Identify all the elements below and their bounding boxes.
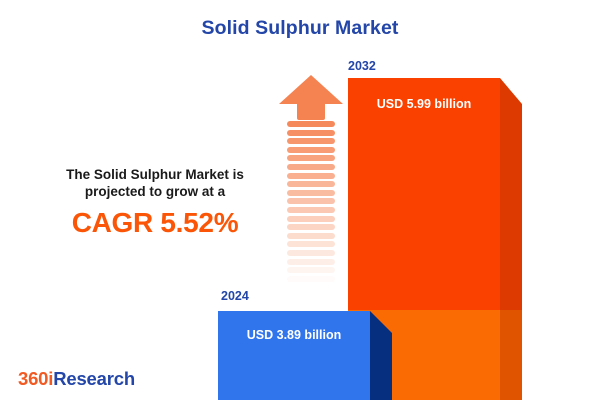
bar-2032-value-label: USD 5.99 billion (348, 97, 500, 111)
bar-2024 (218, 311, 392, 400)
bar-2024-front (218, 311, 370, 400)
bar-2024-year-label: 2024 (221, 289, 249, 303)
arrow-segment (287, 138, 335, 144)
arrow-segment (287, 267, 335, 273)
bar-2032-side-upper (500, 78, 522, 310)
arrow-segment (287, 241, 335, 247)
market-infographic: Solid Sulphur Market 2032 USD 5.99 billi… (0, 0, 600, 400)
arrow-segment (287, 181, 335, 187)
arrow-segment (287, 233, 335, 239)
cagr-line-1: The Solid Sulphur Market is (40, 166, 270, 183)
arrow-segment (287, 164, 335, 170)
arrow-segment (287, 224, 335, 230)
arrow-segment (287, 276, 335, 282)
bar-2032-side-lower (500, 310, 522, 400)
arrow-segment (287, 147, 335, 153)
growth-arrow-icon (278, 74, 344, 290)
page-title: Solid Sulphur Market (0, 17, 600, 40)
arrow-segment (287, 121, 335, 127)
arrow-segment (287, 130, 335, 136)
arrow-segment (287, 173, 335, 179)
arrow-segment (287, 259, 335, 265)
bar-2024-side (370, 311, 392, 400)
arrow-segment (287, 250, 335, 256)
cagr-value: CAGR 5.52% (40, 207, 270, 239)
cagr-line-2: projected to grow at a (40, 183, 270, 200)
arrow-segment (287, 190, 335, 196)
cagr-callout: The Solid Sulphur Market is projected to… (40, 166, 270, 239)
arrow-gradient-segments (287, 121, 335, 290)
arrow-segment (287, 207, 335, 213)
brand-logo: 360iResearch (18, 368, 135, 390)
bar-2032-year-label: 2032 (348, 59, 376, 73)
arrow-segment (287, 198, 335, 204)
arrow-segment (287, 155, 335, 161)
bar-2032-front-upper (348, 78, 500, 310)
bar-2024-value-label: USD 3.89 billion (218, 328, 370, 342)
logo-research-text: Research (53, 368, 135, 389)
logo-360i-text: 360i (18, 368, 53, 389)
arrow-head-icon (278, 74, 344, 120)
arrow-segment (287, 216, 335, 222)
